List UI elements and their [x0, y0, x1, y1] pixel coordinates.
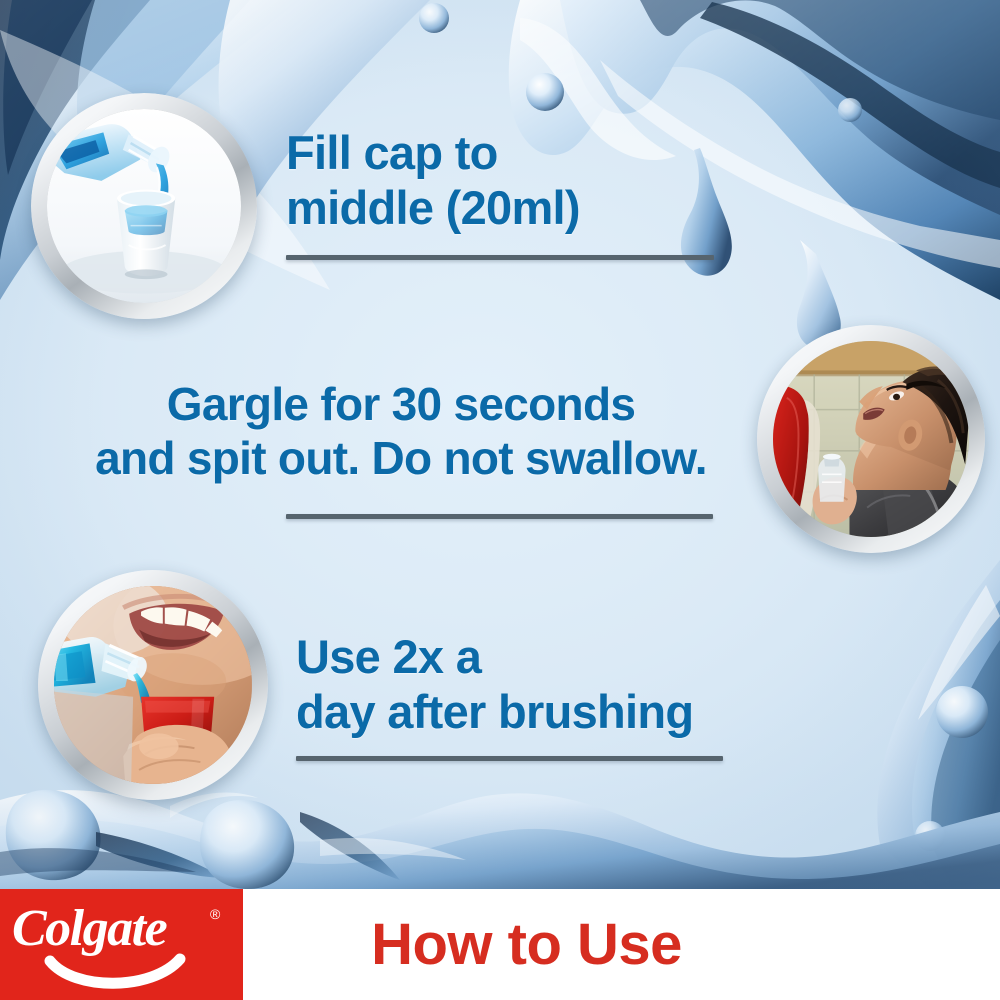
step-gargle: Gargle for 30 seconds and spit out. Do n… [56, 378, 746, 486]
step-gargle-text: Gargle for 30 seconds and spit out. Do n… [56, 378, 746, 486]
step-divider-2 [286, 514, 713, 519]
bottom-banner: Colgate ® How to Use [0, 889, 1000, 1000]
how-to-use-graphic: Fill cap to middle (20ml) Gargle for 30 … [0, 0, 1000, 1000]
step-image-gargle [757, 325, 985, 553]
step-fill-cap: Fill cap to middle (20ml) [286, 126, 806, 236]
step-fill-cap-text: Fill cap to middle (20ml) [286, 126, 806, 236]
colgate-smile-icon [50, 959, 180, 983]
colgate-wordmark: Colgate [12, 900, 167, 957]
step-brushing-text: Use 2x a day after brushing [296, 630, 766, 740]
step-divider-3 [296, 756, 723, 761]
colgate-logo: Colgate ® [0, 889, 243, 1000]
photo-inner [54, 586, 252, 784]
photo-inner [773, 341, 969, 537]
registered-mark: ® [210, 906, 221, 922]
step-brushing: Use 2x a day after brushing [296, 630, 766, 740]
photo-inner [47, 109, 241, 303]
banner-title: How to Use [243, 889, 1000, 1000]
step-image-brushing [38, 570, 268, 800]
step-image-fill-cap [31, 93, 257, 319]
step-divider-1 [286, 255, 714, 260]
colgate-logo-mark: Colgate ® [12, 899, 234, 991]
